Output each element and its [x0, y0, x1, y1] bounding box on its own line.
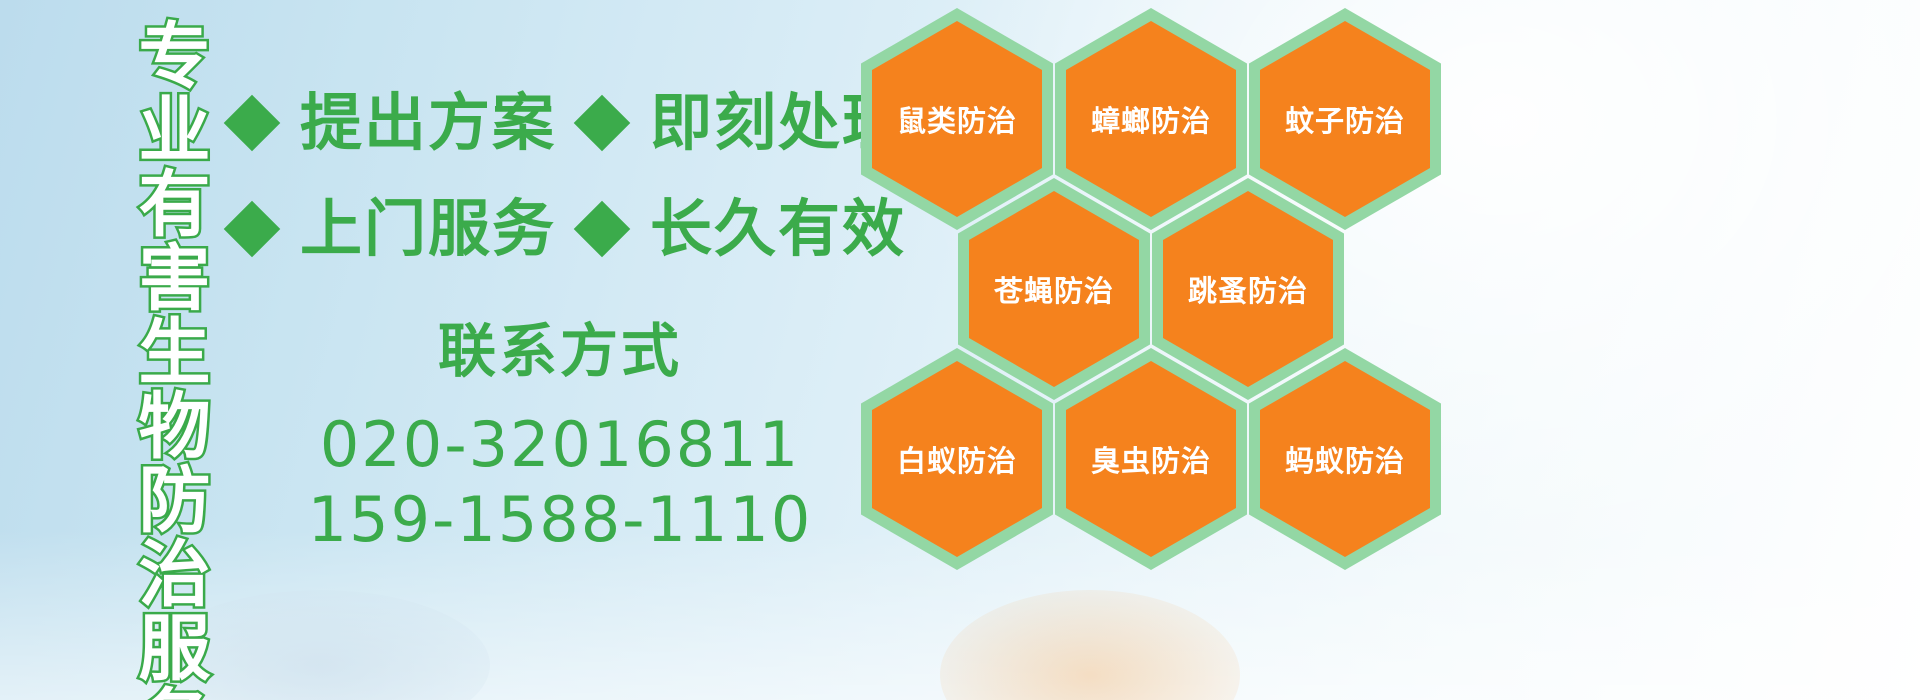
- background-blob-orange: [940, 590, 1240, 700]
- hex-inner: 白蚁防治: [872, 361, 1042, 557]
- hex-label: 蚊子防治: [1285, 98, 1405, 140]
- diamond-icon: [224, 201, 281, 258]
- hex-label: 白蚁防治: [897, 438, 1017, 480]
- hex-inner: 臭虫防治: [1066, 361, 1236, 557]
- hex-inner: 跳蚤防治: [1163, 191, 1333, 387]
- hex-label: 苍蝇防治: [994, 268, 1114, 310]
- diamond-icon: [574, 201, 631, 258]
- phone-number-landline[interactable]: 020-32016811: [260, 407, 860, 483]
- banner-canvas: 专业有害生物防治服务 提出方案 即刻处理 上门服务 长久有效 联系方式 020-…: [0, 0, 1920, 700]
- diamond-icon: [224, 95, 281, 152]
- feature-row-1: 提出方案 即刻处理: [232, 92, 906, 154]
- hex-inner: 鼠类防治: [872, 21, 1042, 217]
- feature-label-onsite-service: 上门服务: [300, 198, 556, 260]
- service-honeycomb: 鼠类防治 蟑螂防治 蚊子防治 苍蝇防治 跳蚤防治 白蚁防治: [855, 0, 1475, 580]
- hex-inner: 蟑螂防治: [1066, 21, 1236, 217]
- contact-block: 联系方式 020-32016811 159-1588-1110: [260, 318, 860, 558]
- vertical-headline: 专业有害生物防治服务: [112, 18, 204, 668]
- hex-inner: 蚊子防治: [1260, 21, 1430, 217]
- feature-label-propose-plan: 提出方案: [300, 92, 556, 154]
- contact-title: 联系方式: [260, 318, 860, 385]
- diamond-icon: [574, 95, 631, 152]
- hex-label: 跳蚤防治: [1188, 268, 1308, 310]
- hex-label: 鼠类防治: [897, 98, 1017, 140]
- hex-label: 臭虫防治: [1091, 438, 1211, 480]
- phone-number-mobile[interactable]: 159-1588-1110: [260, 482, 860, 558]
- hex-label: 蟑螂防治: [1091, 98, 1211, 140]
- feature-row-2: 上门服务 长久有效: [232, 198, 906, 260]
- hex-inner: 蚂蚁防治: [1260, 361, 1430, 557]
- hex-label: 蚂蚁防治: [1285, 438, 1405, 480]
- hex-inner: 苍蝇防治: [969, 191, 1139, 387]
